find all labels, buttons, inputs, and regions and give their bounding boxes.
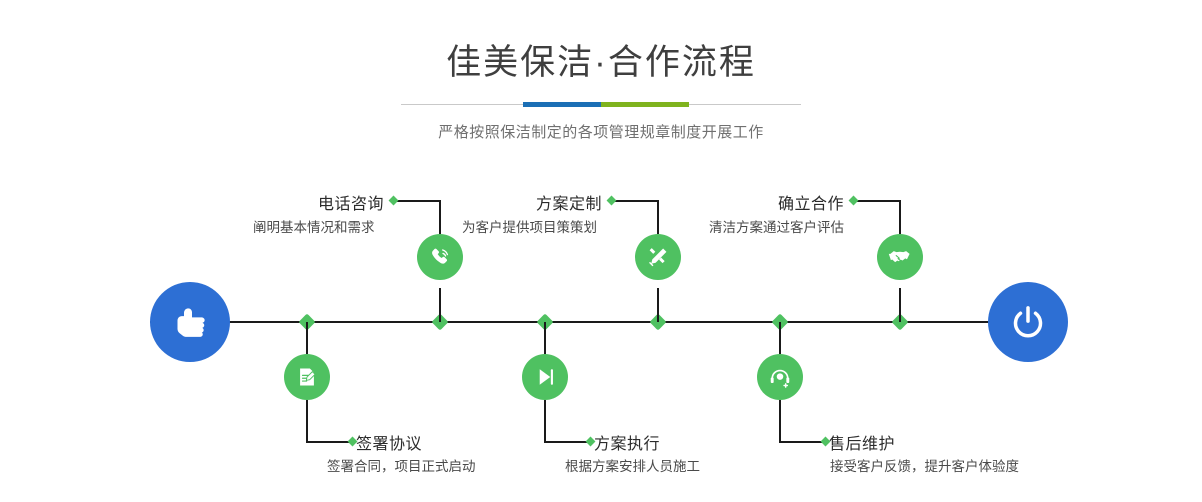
timeline-end-cap <box>988 282 1068 362</box>
page-subtitle: 严格按照保洁制定的各项管理规章制度开展工作 <box>0 121 1202 142</box>
step-3-leader <box>611 200 658 202</box>
step-3-icon-circle[interactable] <box>635 234 681 280</box>
step-3-riser <box>657 200 659 234</box>
page-title: 佳美保洁·合作流程 <box>0 45 1202 80</box>
step-1-stem <box>439 288 441 322</box>
step-4-riser <box>544 400 546 442</box>
phone-consult-icon <box>427 244 453 270</box>
step-2-leader <box>306 441 353 443</box>
timeline-axis <box>150 321 1052 323</box>
sign-document-icon <box>294 364 320 390</box>
step-5-stem <box>899 288 901 322</box>
step-4-leader <box>544 441 591 443</box>
handshake-icon <box>887 244 913 270</box>
step-5-title: 确立合作 <box>778 190 844 214</box>
step-6-title: 售后维护 <box>829 430 895 454</box>
step-4-title: 方案执行 <box>594 430 660 454</box>
step-1-desc: 阐明基本情况和需求 <box>253 216 375 236</box>
step-3-leader-dot <box>607 196 617 206</box>
step-1-icon-circle[interactable] <box>417 234 463 280</box>
process-flow-infographic: 佳美保洁·合作流程 严格按照保洁制定的各项管理规章制度开展工作 <box>0 0 1202 502</box>
step-2-stem <box>306 322 308 354</box>
step-2-riser <box>306 400 308 442</box>
step-6-leader <box>779 441 826 443</box>
step-5-leader <box>853 200 900 202</box>
step-2-icon-circle[interactable] <box>284 354 330 400</box>
customer-service-icon <box>767 364 793 390</box>
step-6-desc: 接受客户反馈，提升客户体验度 <box>830 455 1019 475</box>
header: 佳美保洁·合作流程 严格按照保洁制定的各项管理规章制度开展工作 <box>0 0 1202 142</box>
timeline-start-cap <box>150 282 230 362</box>
step-6-riser <box>779 400 781 442</box>
step-5-leader-dot <box>849 196 859 206</box>
step-4-icon-circle[interactable] <box>522 354 568 400</box>
step-3-desc: 为客户提供项目策策划 <box>462 216 597 236</box>
step-2-desc: 签署合同，项目正式启动 <box>327 455 476 475</box>
step-1-riser <box>439 200 441 234</box>
step-1-leader-dot <box>389 196 399 206</box>
title-divider <box>401 102 801 107</box>
step-5-riser <box>899 200 901 234</box>
step-3-stem <box>657 288 659 322</box>
pointing-hand-icon <box>170 302 210 342</box>
step-1-title: 电话咨询 <box>318 190 384 214</box>
divider-green-segment <box>601 102 689 107</box>
step-1-leader <box>393 200 440 202</box>
play-execute-icon <box>532 364 558 390</box>
step-5-icon-circle[interactable] <box>877 234 923 280</box>
step-5-desc: 清洁方案通过客户评估 <box>709 216 844 236</box>
step-4-desc: 根据方案安排人员施工 <box>565 455 700 475</box>
pencil-ruler-icon <box>645 244 671 270</box>
step-6-stem <box>779 322 781 354</box>
step-3-title: 方案定制 <box>536 190 602 214</box>
step-4-stem <box>544 322 546 354</box>
step-6-icon-circle[interactable] <box>757 354 803 400</box>
divider-blue-segment <box>523 102 601 107</box>
step-2-title: 签署协议 <box>356 430 422 454</box>
power-icon <box>1008 302 1048 342</box>
